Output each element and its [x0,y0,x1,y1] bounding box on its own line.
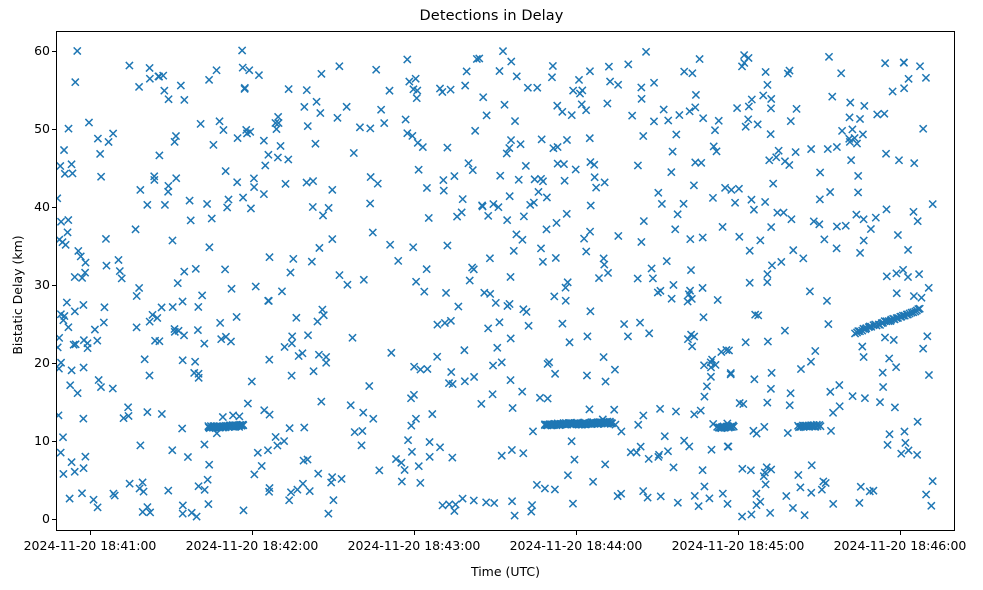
plot-area [56,31,955,531]
y-tick-label: 40 [6,200,50,214]
y-tick-label: 0 [6,512,50,526]
y-tick-mark [52,285,56,286]
y-tick-mark [52,207,56,208]
x-tick-label: 2024-11-20 18:46:00 [805,538,983,553]
x-tick-mark [414,531,415,535]
y-tick-mark [52,441,56,442]
scatter-series [57,32,955,531]
y-axis-label: Bistatic Delay (km) [10,0,28,590]
y-tick-label: 50 [6,122,50,136]
x-tick-mark [252,531,253,535]
y-tick-label: 30 [6,278,50,292]
x-tick-mark [576,531,577,535]
matplotlib-figure: Detections in Delay Bistatic Delay (km) … [0,0,983,590]
y-tick-mark [52,519,56,520]
x-tick-mark [900,531,901,535]
y-tick-label: 20 [6,356,50,370]
y-tick-mark [52,129,56,130]
y-tick-mark [52,363,56,364]
x-axis-label: Time (UTC) [56,564,955,579]
y-tick-mark [52,51,56,52]
x-tick-mark [90,531,91,535]
y-tick-label: 10 [6,434,50,448]
chart-title: Detections in Delay [0,8,983,24]
y-tick-label: 60 [6,44,50,58]
x-tick-mark [738,531,739,535]
